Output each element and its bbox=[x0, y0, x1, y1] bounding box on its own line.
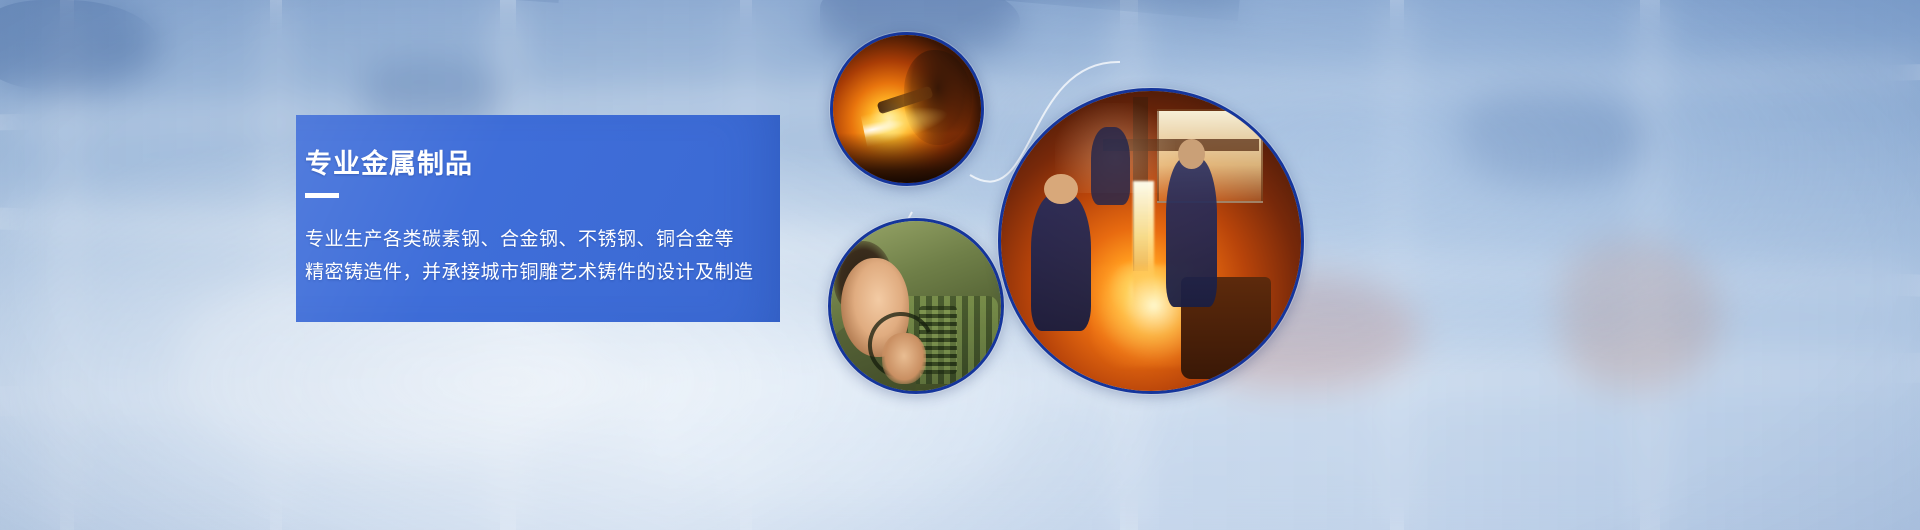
hero-banner: 专业金属制品 专业生产各类碳素钢、合金钢、不锈钢、铜合金等 精密铸造件，并承接城… bbox=[0, 0, 1920, 530]
welding-photo-icon bbox=[830, 32, 984, 186]
promo-text-panel: 专业金属制品 专业生产各类碳素钢、合金钢、不锈钢、铜合金等 精密铸造件，并承接城… bbox=[296, 115, 780, 322]
panel-body-line-2: 精密铸造件，并承接城市铜雕艺术铸件的设计及制造 bbox=[305, 256, 775, 289]
heading-divider bbox=[305, 193, 339, 198]
panel-heading: 专业金属制品 bbox=[296, 142, 780, 181]
photo-collage bbox=[820, 0, 1440, 530]
foundry-pour-photo-icon bbox=[998, 88, 1304, 394]
panel-body-text: 专业生产各类碳素钢、合金钢、不锈钢、铜合金等 精密铸造件，并承接城市铜雕艺术铸件… bbox=[305, 223, 775, 289]
panel-body-line-1: 专业生产各类碳素钢、合金钢、不锈钢、铜合金等 bbox=[305, 223, 775, 256]
assembly-worker-photo-icon bbox=[828, 218, 1004, 394]
